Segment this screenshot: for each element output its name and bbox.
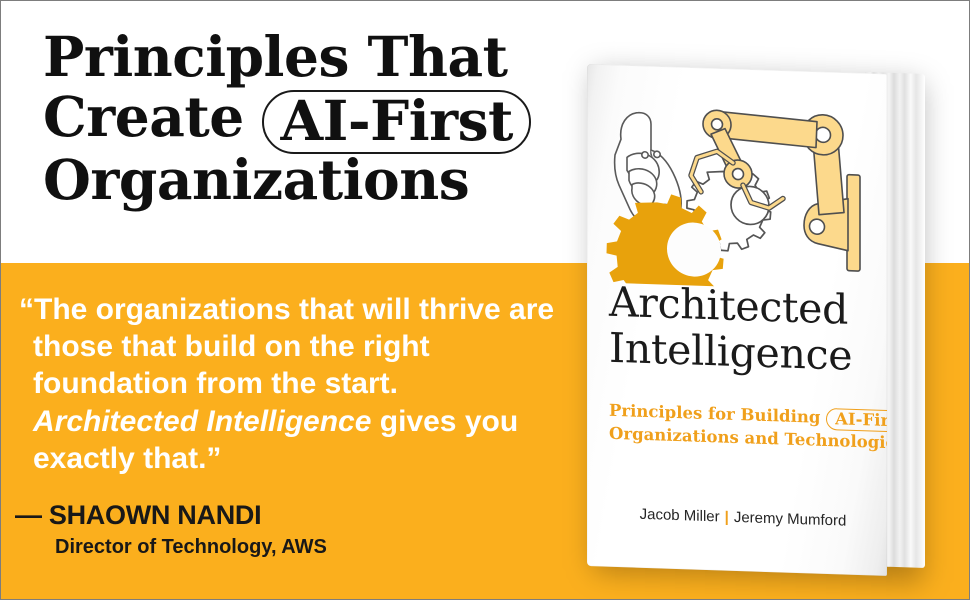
book-mockup: Architected Intelligence Principles for … <box>587 61 935 585</box>
cover-subtitle: Principles for Building AI-First Organiz… <box>609 400 877 454</box>
author-second: Jeremy Mumford <box>734 509 847 530</box>
quote-close-mark: ” <box>206 442 221 475</box>
attribution-name: — SHAOWN NANDI <box>15 501 555 531</box>
author-separator: | <box>720 508 734 525</box>
book-front-cover: Architected Intelligence Principles for … <box>587 64 887 576</box>
quote-open-mark: “ <box>19 293 34 326</box>
headline: Principles That Create AI-First Organiza… <box>43 27 573 210</box>
quote-book-title: Architected Intelligence <box>33 405 371 438</box>
cover-authors: Jacob Miller|Jeremy Mumford <box>609 505 877 531</box>
cover-title: Architected Intelligence <box>609 280 874 380</box>
attribution: — SHAOWN NANDI Director of Technology, A… <box>15 501 555 560</box>
headline-line-3: Organizations <box>43 150 573 209</box>
quote-part-1: The organizations that will thrive are t… <box>33 293 554 400</box>
headline-ai-first-pill: AI-First <box>262 90 531 154</box>
cover-subtitle-ai-first-pill: AI-First <box>826 408 887 433</box>
author-first: Jacob Miller <box>640 506 720 526</box>
book-promo-banner: Principles That Create AI-First Organiza… <box>0 0 970 600</box>
testimonial-block: “The organizations that will thrive are … <box>33 291 563 477</box>
robot-arm-base-plate <box>847 175 860 271</box>
quote-text: “The organizations that will thrive are … <box>33 291 563 477</box>
headline-line-2-text: Create <box>43 84 244 149</box>
headline-line-1: Principles That <box>43 27 573 86</box>
cover-title-line-2: Intelligence <box>609 325 874 379</box>
cover-illustration <box>605 93 875 292</box>
headline-line-2: Create AI-First <box>43 86 573 150</box>
attribution-role: Director of Technology, AWS <box>55 534 555 560</box>
